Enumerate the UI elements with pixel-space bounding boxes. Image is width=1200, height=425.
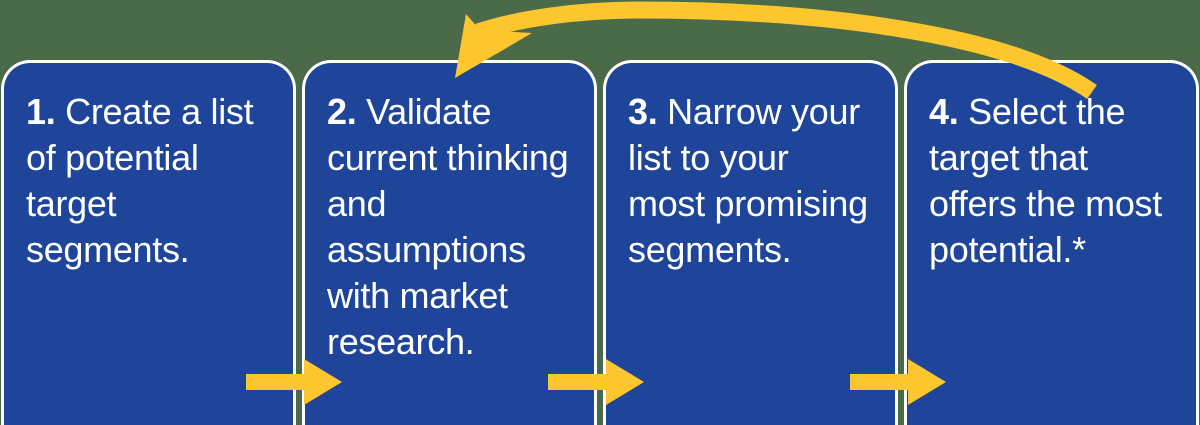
step-2-number: 2. — [327, 91, 356, 132]
step-box-3[interactable]: 3. Narrow your list to your most promisi… — [606, 63, 895, 425]
step-box-4[interactable]: 4. Select the target that offers the mos… — [907, 63, 1196, 425]
step-3-text: 3. Narrow your list to your most promisi… — [628, 89, 873, 273]
step-4-body: Select the target that offers the most p… — [929, 91, 1162, 270]
step-4-number: 4. — [929, 91, 958, 132]
step-2-body: Validate current thinking and assumption… — [327, 91, 568, 362]
step-1-text: 1. Create a list of potential target seg… — [26, 89, 271, 273]
step-3-number: 3. — [628, 91, 657, 132]
step-box-1[interactable]: 1. Create a list of potential target seg… — [4, 63, 293, 425]
step-4-text: 4. Select the target that offers the mos… — [929, 89, 1174, 273]
step-box-2[interactable]: 2. Validate current thinking and assumpt… — [305, 63, 594, 425]
step-3-body: Narrow your list to your most promising … — [628, 91, 868, 270]
process-diagram: 1. Create a list of potential target seg… — [0, 0, 1200, 425]
step-1-body: Create a list of potential target segmen… — [26, 91, 253, 270]
step-2-text: 2. Validate current thinking and assumpt… — [327, 89, 572, 365]
step-1-number: 1. — [26, 91, 55, 132]
steps-container: 1. Create a list of potential target seg… — [0, 63, 1200, 425]
